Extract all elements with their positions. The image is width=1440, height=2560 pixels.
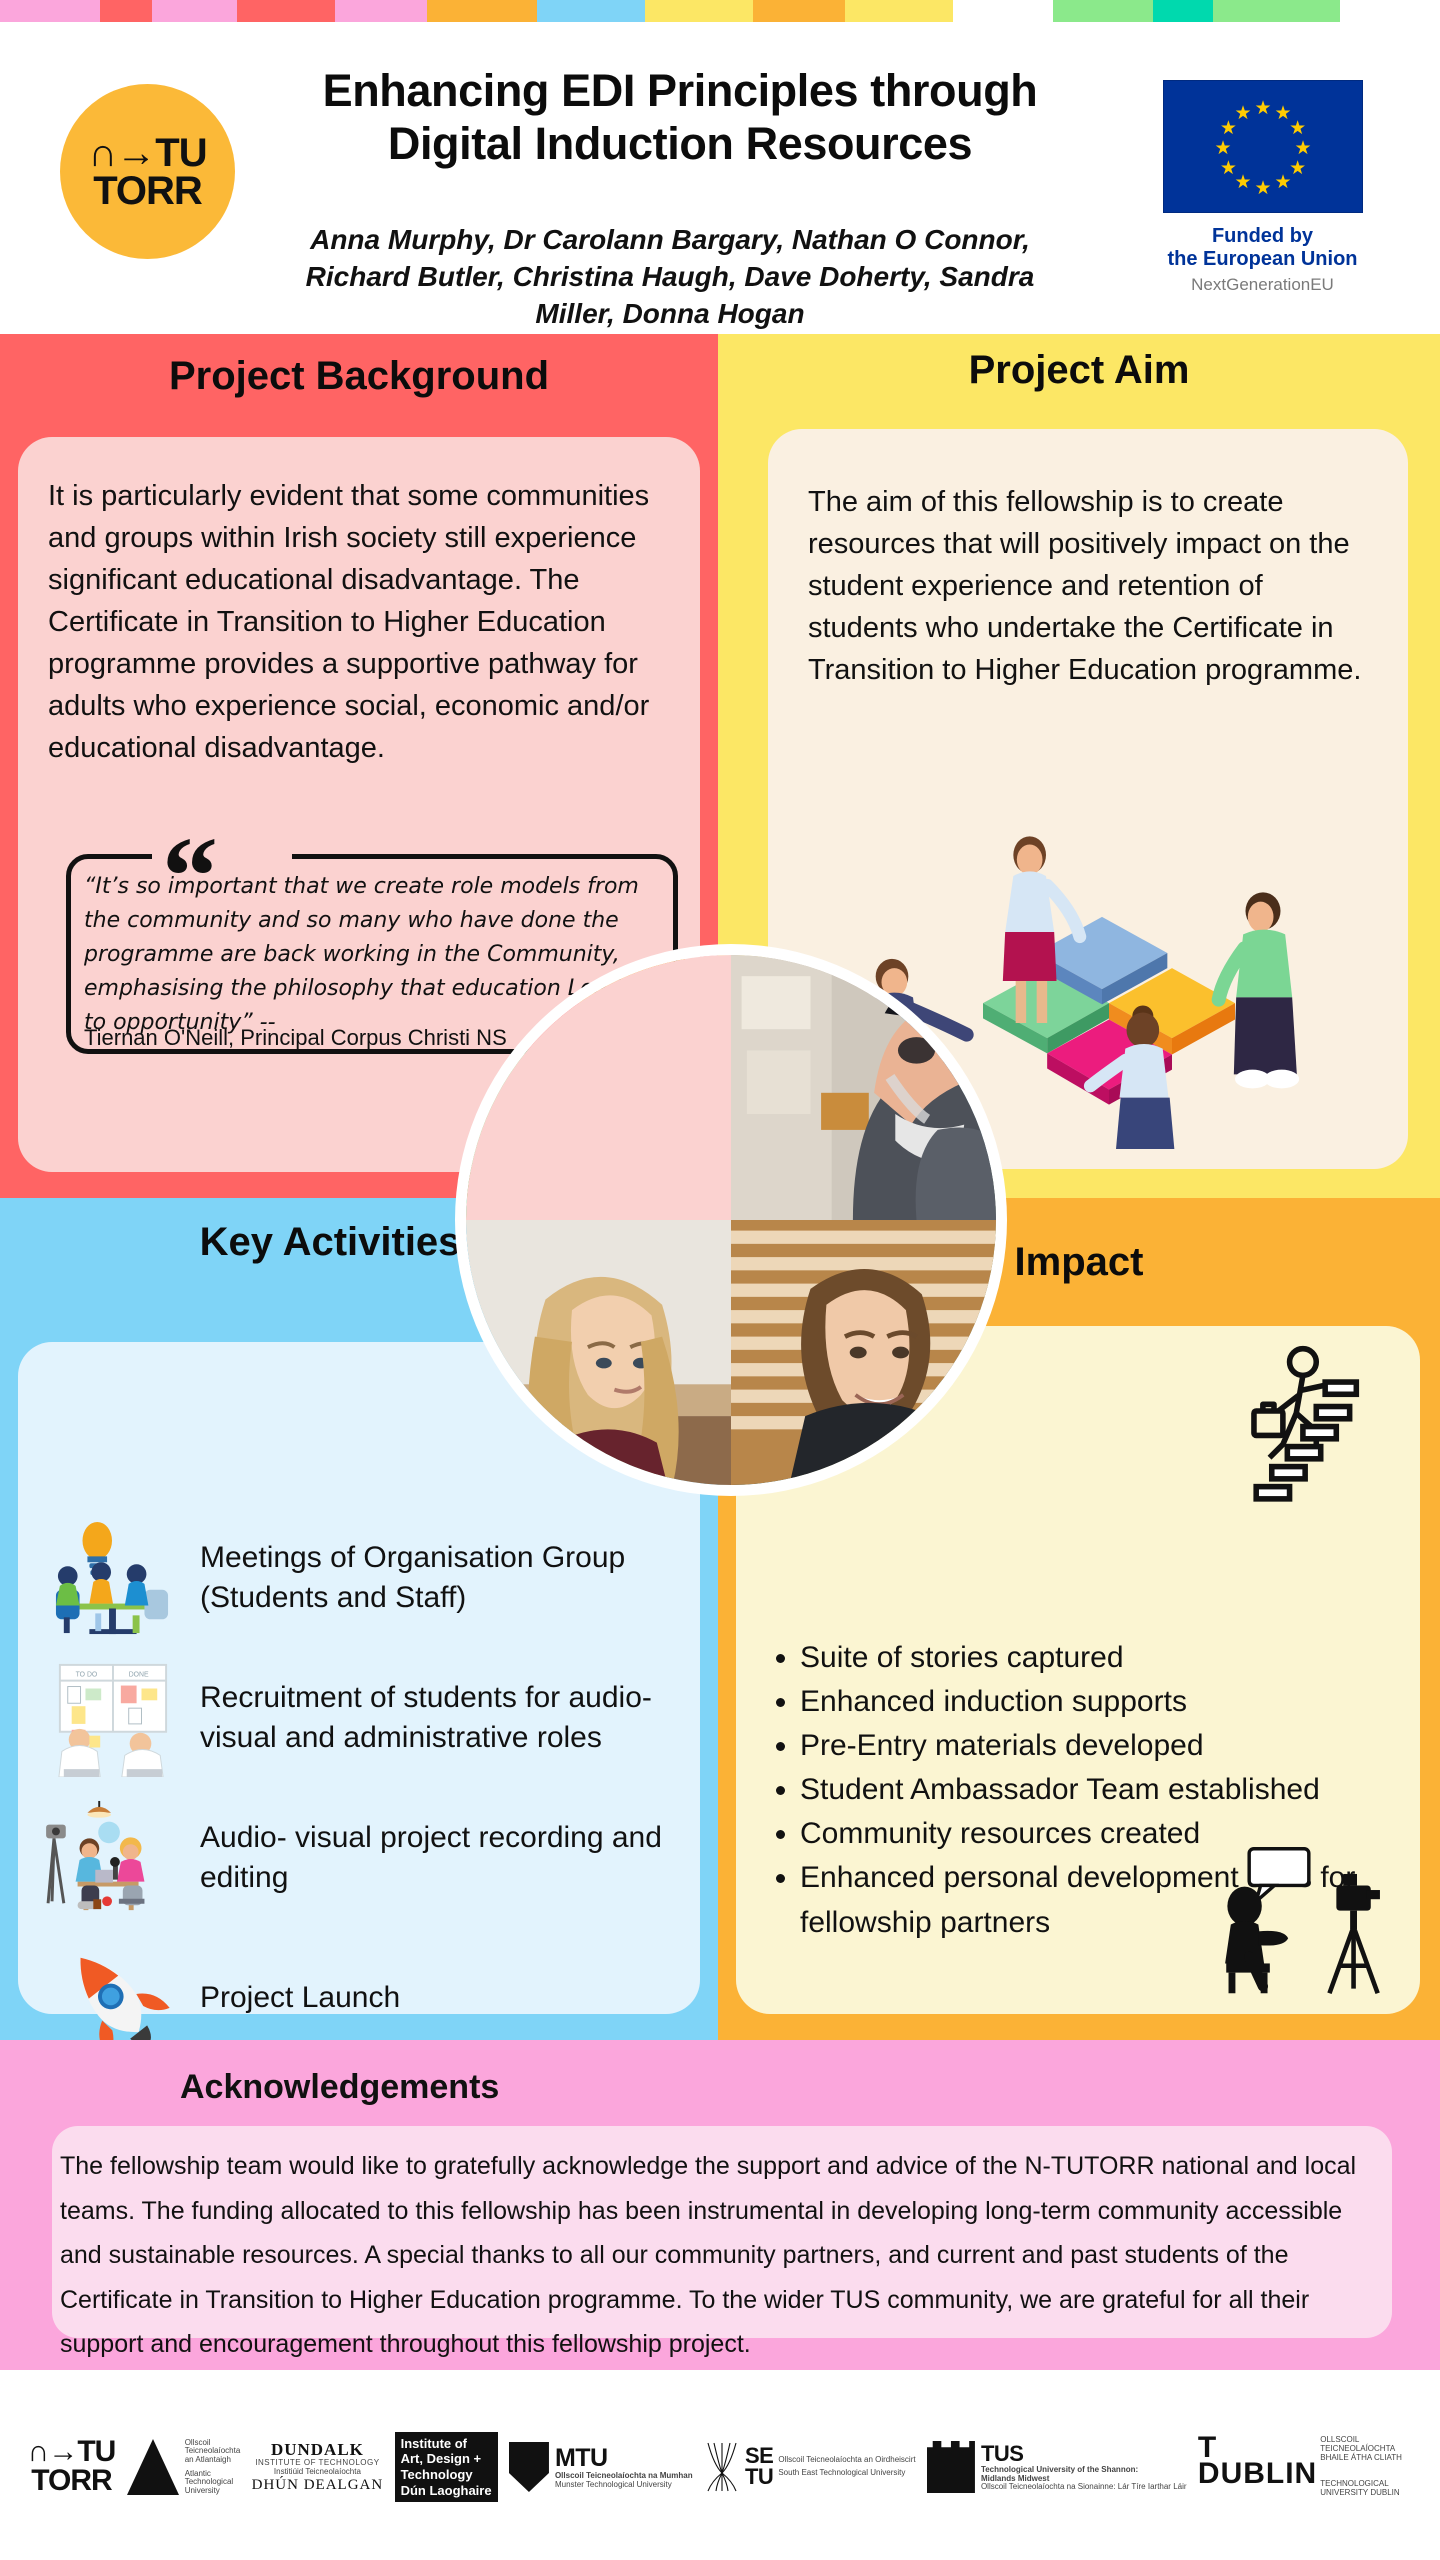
setu-line3: Ollscoil Teicneolaíochta an Oirdheiscirt	[778, 2456, 915, 2465]
tus-castle-icon	[927, 2441, 975, 2493]
dundalk-line1: DUNDALK	[252, 2441, 384, 2459]
mtu-line1: MTU	[555, 2445, 693, 2472]
iadt-line1: Institute of	[401, 2436, 492, 2452]
eu-star-icon: ★	[1235, 104, 1252, 123]
list-item: Audio- visual project recording and edit…	[32, 1794, 702, 1922]
footer-logo-setu: SE TU Ollscoil Teicneolaíochta an Oirdhe…	[704, 2441, 916, 2493]
top-color-stripe	[0, 0, 1440, 22]
poster-authors: Anna Murphy, Dr Carolann Bargary, Nathan…	[260, 222, 1080, 333]
ntutorr-logo-line1: ∩→TU	[88, 134, 206, 172]
eu-star-icon: ★	[1215, 139, 1232, 158]
activity-label: Audio- visual project recording and edit…	[192, 1818, 702, 1897]
collage-photo-young-woman	[466, 1220, 731, 1485]
activity-label: Meetings of Organisation Group (Students…	[192, 1538, 702, 1617]
impact-bullet: Enhanced induction supports	[800, 1680, 1378, 1724]
climbing-stairs-icon	[1200, 1342, 1368, 1520]
poster-title-line1: Enhancing EDI Principles through	[250, 64, 1110, 117]
tud-line4: TECHNOLOGICAL UNIVERSITY DUBLIN	[1320, 2480, 1412, 2497]
stripe-segment	[100, 0, 152, 22]
setu-line4: South East Technological University	[778, 2469, 915, 2478]
stripe-segment	[645, 0, 753, 22]
footer-logo-mtu: MTU Ollscoil Teicneolaíochta na Mumhan M…	[509, 2442, 693, 2492]
authors-line3: Miller, Donna Hogan	[260, 296, 1080, 333]
atu-line6: University	[185, 2487, 241, 2496]
recording-studio-icon	[32, 1796, 192, 1920]
eu-star-icon: ★	[1275, 173, 1292, 192]
eu-funded-line2: the European Union	[1150, 248, 1375, 271]
tus-line4: Ollscoil Teicneolaíochta na Sionainne: L…	[981, 2483, 1187, 2492]
setu-line2: TU	[745, 2467, 773, 2488]
ntutorr-logo: ∩→TU TORR	[60, 84, 235, 259]
acknowledgements-title: Acknowledgements	[180, 2068, 499, 2107]
footer-ntutorr-line1: ∩→TU	[28, 2438, 116, 2467]
footer-logo-iadt: Institute of Art, Design + Technology Dú…	[395, 2432, 498, 2502]
collage-photo-man-with-beanie	[731, 955, 996, 1220]
dundalk-line4: DHÚN DEALGAN	[252, 2477, 384, 2493]
photo-collage	[466, 955, 996, 1485]
atu-line3: an Atlantaigh	[185, 2456, 241, 2465]
eu-program-label: NextGenerationEU	[1150, 275, 1375, 295]
setu-roots-icon	[704, 2441, 740, 2493]
svg-text:TO DO: TO DO	[76, 1672, 98, 1679]
footer-logo-atu: Ollscoil Teicneolaíochta an Atlantaigh A…	[127, 2439, 241, 2496]
impact-bullet: Suite of stories captured	[800, 1636, 1378, 1680]
activity-label: Recruitment of students for audio-visual…	[192, 1678, 702, 1757]
stripe-segment	[1153, 0, 1213, 22]
activity-label: Project Launch	[192, 1978, 400, 2018]
footer-logo-tus: TUS Technological University of the Shan…	[927, 2441, 1187, 2493]
stripe-segment	[1213, 0, 1340, 22]
kanban-board-icon: TO DO DONE	[32, 1656, 192, 1780]
tud-line2: DUBLIN	[1198, 2460, 1317, 2487]
eu-star-icon: ★	[1220, 159, 1237, 178]
stripe-segment	[335, 0, 427, 22]
section-acknowledgements: Acknowledgements The fellowship team wou…	[0, 2040, 1440, 2370]
footer-logo-tudublin: T DUBLIN OLLSCOIL TEICNEOLAÍOCHTA BHAILE…	[1198, 2436, 1412, 2497]
eu-star-icon: ★	[1295, 139, 1312, 158]
stripe-segment	[845, 0, 953, 22]
collage-photo-smiling-woman	[731, 1220, 996, 1485]
dundalk-line3: Institiúid Teicneolaíochta	[252, 2468, 384, 2477]
iadt-line4: Dún Laoghaire	[401, 2483, 492, 2499]
ntutorr-logo-line2: TORR	[88, 172, 206, 210]
project-aim-paragraph: The aim of this fellowship is to create …	[808, 481, 1373, 691]
authors-line2: Richard Butler, Christina Haugh, Dave Do…	[260, 259, 1080, 296]
collage-quadrant-topleft	[466, 955, 731, 1220]
poster-title: Enhancing EDI Principles through Digital…	[250, 64, 1110, 170]
eu-flag-icon: ★★★★★★★★★★★★	[1163, 80, 1363, 213]
footer-logo-bar: ∩→TU TORR Ollscoil Teicneolaíochta an At…	[0, 2370, 1440, 2560]
poster-title-line2: Digital Induction Resources	[250, 117, 1110, 170]
stripe-segment	[427, 0, 537, 22]
mtu-line3: Munster Technological University	[555, 2481, 693, 2490]
key-activities-list: Meetings of Organisation Group (Students…	[32, 1514, 702, 2074]
list-item: Meetings of Organisation Group (Students…	[32, 1514, 702, 1642]
mtu-shield-icon	[509, 2442, 549, 2492]
footer-ntutorr-line2: TORR	[28, 2467, 116, 2496]
eu-funding-logo: ★★★★★★★★★★★★ Funded by the European Unio…	[1150, 80, 1375, 295]
eu-star-icon: ★	[1255, 99, 1272, 118]
stripe-segment	[953, 0, 1053, 22]
tud-line3: OLLSCOIL TEICNEOLAÍOCHTA BHAILE ÁTHA CLI…	[1320, 2436, 1412, 2462]
stripe-segment	[753, 0, 845, 22]
iadt-line2: Art, Design +	[401, 2451, 492, 2467]
stripe-segment	[1053, 0, 1153, 22]
stripe-segment	[152, 0, 237, 22]
interview-camera-icon	[1201, 1846, 1396, 1996]
eu-star-icon: ★	[1235, 173, 1252, 192]
iadt-line3: Technology	[401, 2467, 492, 2483]
poster-header: ∩→TU TORR Enhancing EDI Principles throu…	[0, 22, 1440, 334]
tus-line1: TUS	[981, 2442, 1187, 2466]
authors-line1: Anna Murphy, Dr Carolann Bargary, Nathan…	[260, 222, 1080, 259]
atu-mark-icon	[127, 2439, 179, 2495]
acknowledgements-text: The fellowship team would like to gratef…	[60, 2144, 1385, 2367]
stripe-segment	[237, 0, 335, 22]
list-item: TO DO DONE	[32, 1654, 702, 1782]
impact-bullet: Student Ambassador Team established	[800, 1768, 1378, 1812]
eu-star-icon: ★	[1289, 159, 1306, 178]
project-background-paragraph: It is particularly evident that some com…	[48, 475, 668, 769]
eu-funded-line1: Funded by	[1150, 225, 1375, 248]
stripe-segment	[537, 0, 645, 22]
footer-logo-dundalk: DUNDALK INSTITUTE OF TECHNOLOGY Institiú…	[252, 2441, 384, 2493]
eu-star-icon: ★	[1255, 179, 1272, 198]
impact-bullet: Pre-Entry materials developed	[800, 1724, 1378, 1768]
svg-text:DONE: DONE	[129, 1672, 149, 1679]
footer-logo-ntutorr: ∩→TU TORR	[28, 2438, 116, 2496]
project-background-title: Project Background	[0, 354, 718, 399]
eu-star-icon: ★	[1289, 119, 1306, 138]
stripe-segment	[0, 0, 100, 22]
project-aim-title: Project Aim	[718, 348, 1440, 393]
meeting-table-icon	[32, 1516, 192, 1640]
